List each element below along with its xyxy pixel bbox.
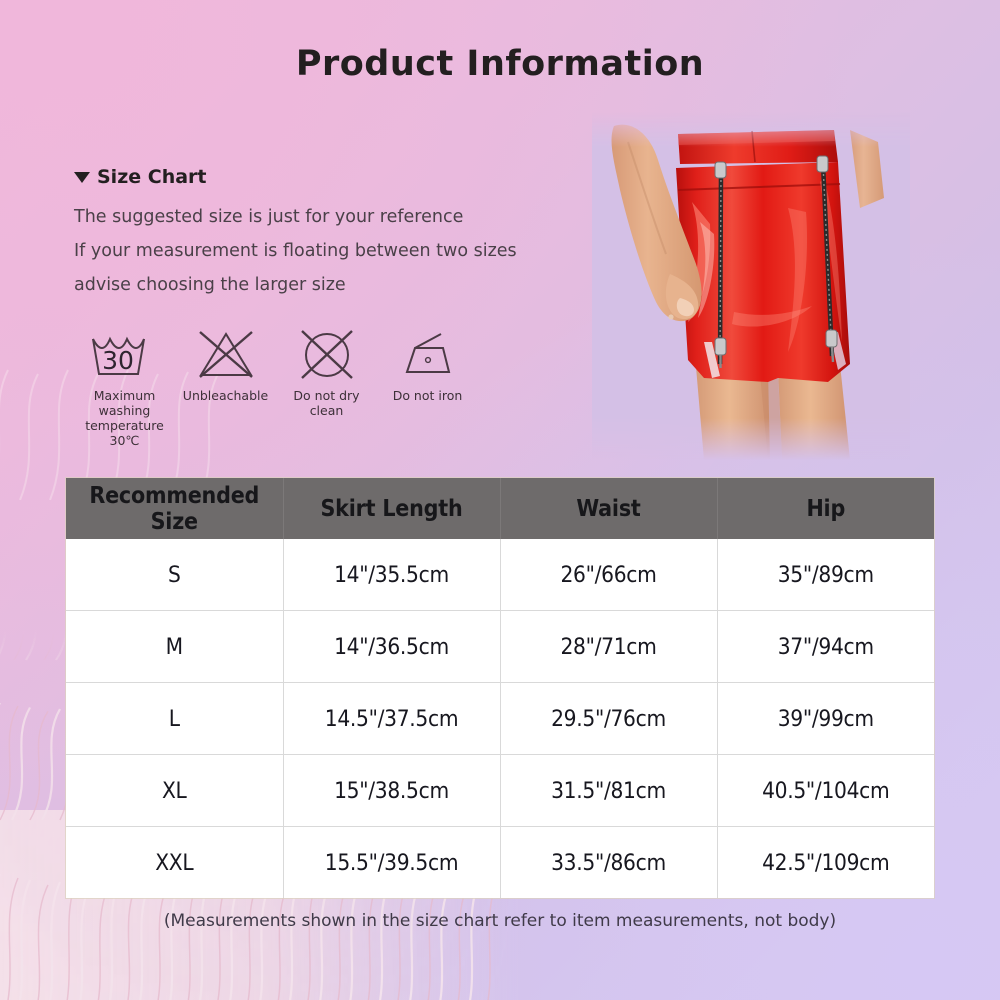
table-row: L 14.5"/37.5cm 29.5"/76cm 39"/99cm	[66, 683, 934, 755]
description-line-3: advise choosing the larger size	[74, 268, 574, 302]
cell-hip: 35"/89cm	[717, 539, 934, 611]
size-chart-heading: Size Chart	[97, 166, 207, 188]
care-item-dry-clean: Do not dry clean	[276, 328, 377, 418]
measurements-footnote: (Measurements shown in the size chart re…	[0, 911, 1000, 931]
cell-hip: 42.5"/109cm	[717, 827, 934, 899]
table-row: M 14"/36.5cm 28"/71cm 37"/94cm	[66, 611, 934, 683]
cell-hip: 40.5"/104cm	[717, 755, 934, 827]
size-chart-description: The suggested size is just for your refe…	[74, 200, 574, 302]
care-item-iron: Do not iron	[377, 328, 478, 403]
no-dry-clean-circle-icon	[298, 328, 356, 380]
table-row: S 14"/35.5cm 26"/66cm 35"/89cm	[66, 539, 934, 611]
svg-text:30: 30	[102, 346, 134, 375]
cell-skirt-length: 15.5"/39.5cm	[283, 827, 500, 899]
cell-size: XXL	[66, 827, 283, 899]
cell-size: XL	[66, 755, 283, 827]
care-instructions-row: 30 Maximum washing temperature 30℃ Unble…	[74, 328, 478, 448]
cell-waist: 33.5"/86cm	[500, 827, 717, 899]
cell-skirt-length: 14"/36.5cm	[283, 611, 500, 683]
cell-hip: 39"/99cm	[717, 683, 934, 755]
cell-skirt-length: 14.5"/37.5cm	[283, 683, 500, 755]
cell-skirt-length: 15"/38.5cm	[283, 755, 500, 827]
table-row: XXL 15.5"/39.5cm 33.5"/86cm 42.5"/109cm	[66, 827, 934, 899]
wash-tub-30-icon: 30	[87, 328, 163, 380]
cell-waist: 28"/71cm	[500, 611, 717, 683]
cell-waist: 26"/66cm	[500, 539, 717, 611]
cell-size: L	[66, 683, 283, 755]
column-header-recommended-size: Recommended Size	[66, 478, 283, 539]
description-line-1: The suggested size is just for your refe…	[74, 200, 574, 234]
column-header-hip: Hip	[717, 478, 934, 539]
cell-waist: 31.5"/81cm	[500, 755, 717, 827]
triangle-down-icon	[74, 172, 90, 183]
cell-waist: 29.5"/76cm	[500, 683, 717, 755]
description-line-2: If your measurement is floating between …	[74, 234, 574, 268]
care-item-washing: 30 Maximum washing temperature 30℃	[74, 328, 175, 448]
table-header-row: Recommended Size Skirt Length Waist Hip	[66, 478, 934, 539]
table-row: XL 15"/38.5cm 31.5"/81cm 40.5"/104cm	[66, 755, 934, 827]
cell-size: S	[66, 539, 283, 611]
size-chart-toggle[interactable]: Size Chart	[74, 166, 207, 188]
care-label-iron: Do not iron	[393, 388, 463, 403]
no-bleach-triangle-icon	[195, 328, 257, 380]
product-photo	[592, 112, 910, 460]
cell-size: M	[66, 611, 283, 683]
cell-skirt-length: 14"/35.5cm	[283, 539, 500, 611]
care-label-dry-clean: Do not dry clean	[276, 388, 377, 418]
cell-hip: 37"/94cm	[717, 611, 934, 683]
care-label-bleach: Unbleachable	[183, 388, 268, 403]
care-label-washing: Maximum washing temperature 30℃	[74, 388, 175, 448]
size-chart-table: Recommended Size Skirt Length Waist Hip …	[66, 478, 934, 898]
column-header-skirt-length: Skirt Length	[283, 478, 500, 539]
care-item-bleach: Unbleachable	[175, 328, 276, 403]
product-information-page: Product Information Size Chart The sugge…	[0, 0, 1000, 1000]
no-iron-icon	[397, 328, 459, 380]
page-title: Product Information	[0, 44, 1000, 84]
column-header-waist: Waist	[500, 478, 717, 539]
